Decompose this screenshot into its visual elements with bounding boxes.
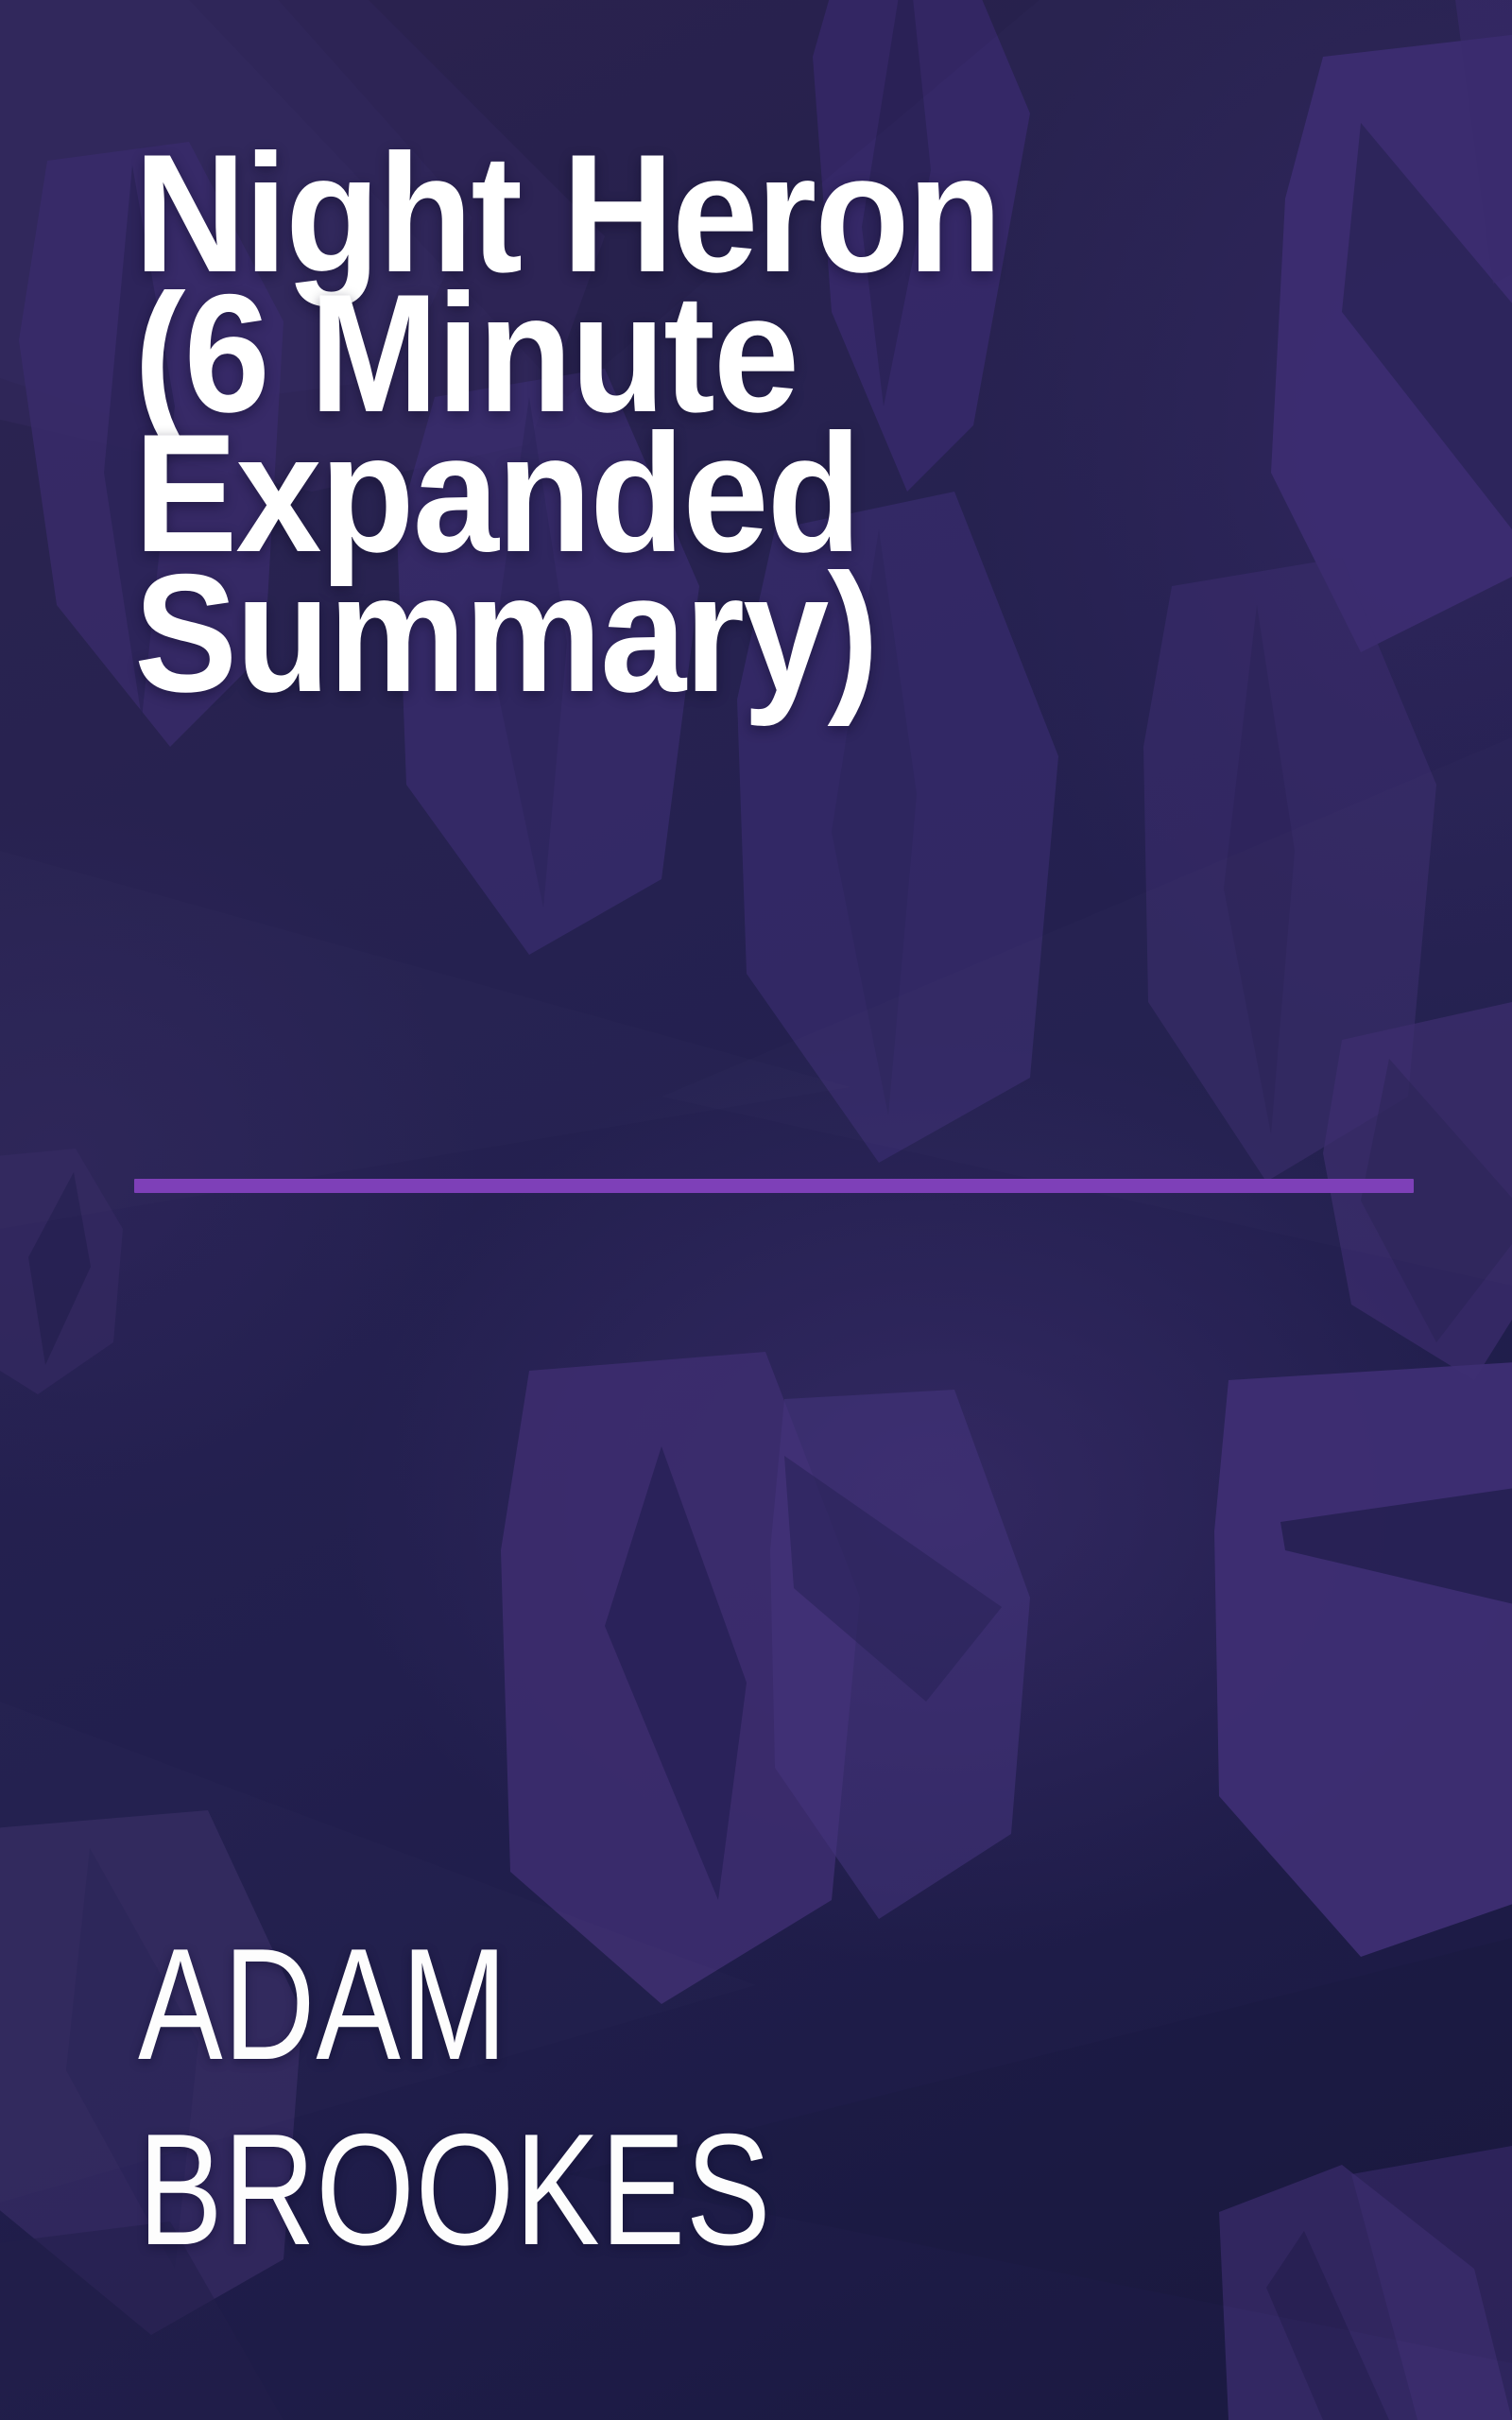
book-title: Night Heron (6 Minute Expanded Summary) <box>134 144 1438 703</box>
book-author: ADAM BROOKES <box>138 1911 1366 2282</box>
author-line-2: BROOKES <box>138 2097 1121 2282</box>
cover-content: Night Heron (6 Minute Expanded Summary) … <box>0 0 1512 2420</box>
accent-divider <box>134 1179 1414 1193</box>
title-line-4: Summary) <box>134 563 1334 703</box>
book-cover: Night Heron (6 Minute Expanded Summary) … <box>0 0 1512 2420</box>
author-line-1: ADAM <box>138 1911 1121 2097</box>
